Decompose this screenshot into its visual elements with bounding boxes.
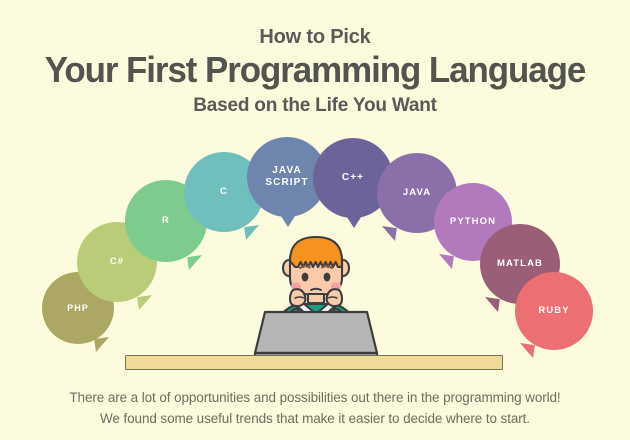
language-bubble-label: C++ xyxy=(338,172,368,184)
language-bubble-ruby[interactable]: RUBY xyxy=(515,272,593,350)
language-bubble-label: R xyxy=(158,215,174,226)
language-bubble-label: MATLAB xyxy=(493,258,547,269)
language-bubble-label: PYTHON xyxy=(446,216,500,227)
language-bubble-label: C xyxy=(216,186,232,197)
title-subtitle: Based on the Life You Want xyxy=(0,96,630,117)
title-kicker: How to Pick xyxy=(0,26,630,48)
language-bubble-label: RUBY xyxy=(534,305,573,316)
desk-surface xyxy=(125,355,503,370)
infographic-canvas: How to Pick Your First Programming Langu… xyxy=(0,0,630,440)
language-bubble-label: C# xyxy=(106,256,128,267)
caption-block: There are a lot of opportunities and pos… xyxy=(0,388,630,430)
page-title: Your First Programming Language xyxy=(9,50,620,90)
language-bubble-label: JAVA xyxy=(399,187,435,198)
language-bubble-label: JAVA SCRIPT xyxy=(252,165,322,189)
title-block: How to Pick Your First Programming Langu… xyxy=(0,26,630,117)
caption-line-2: We found some useful trends that make it… xyxy=(0,409,630,430)
language-bubble-label: PHP xyxy=(63,303,93,314)
caption-line-1: There are a lot of opportunities and pos… xyxy=(0,388,630,409)
laptop xyxy=(253,310,379,360)
